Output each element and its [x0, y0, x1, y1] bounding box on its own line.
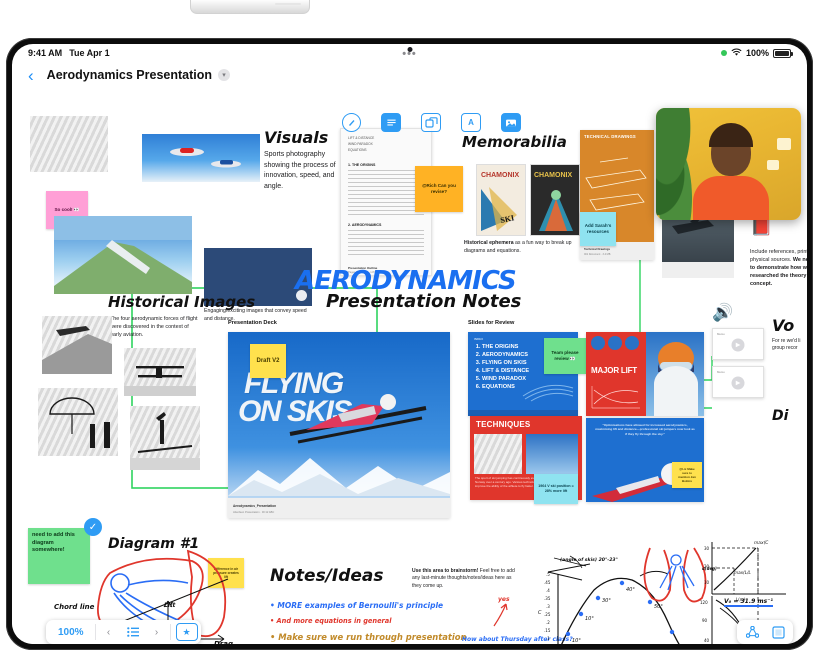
photo-glider-1[interactable]: [42, 316, 112, 374]
photo-skier-vintage[interactable]: [130, 406, 200, 470]
technical-drawings-title: TECHNICAL DRAWINGS: [584, 134, 636, 139]
svg-text:10: 10: [704, 580, 710, 585]
page-title: Aerodynamics Presentation: [47, 68, 212, 82]
chart2-velocity-annotation: V₀ = 31.9 ms⁻¹: [724, 598, 773, 607]
slide-major-lift[interactable]: MAJOR LIFT: [586, 332, 704, 416]
zoom-level[interactable]: 100%: [49, 627, 93, 638]
note-bullet: • Make sure we run through presentation: [270, 632, 466, 642]
heading-visuals: Visuals: [264, 128, 328, 147]
media-icon[interactable]: [501, 113, 521, 132]
svg-text:30°: 30°: [602, 598, 611, 604]
svg-text:max(C: max(C: [754, 540, 769, 546]
svg-text:120: 120: [700, 600, 708, 605]
chevron-right-icon[interactable]: ›: [146, 622, 168, 642]
svg-text:.2: .2: [546, 620, 550, 625]
speaker-emoji: 🔊: [712, 303, 733, 323]
svg-text:.3: .3: [546, 604, 550, 609]
sticky-boklov[interactable]: @Liz Make sure to mention Jan Boklov: [672, 462, 702, 488]
notes-prompt: Use this area to brainstorm! Feel free t…: [412, 568, 517, 590]
poster-chamonix-2[interactable]: CHAMONIX: [530, 164, 580, 236]
svg-text:CHAMONIX: CHAMONIX: [534, 172, 572, 179]
zoom-toolbar: 100% ‹ › ★: [46, 620, 201, 644]
photo-biplane[interactable]: [124, 348, 196, 396]
app-navbar: ‹ Aerodynamics Presentation ▾: [12, 62, 807, 88]
connector-graph-icon[interactable]: [741, 622, 763, 642]
board-title-line2: Presentation Notes: [326, 291, 521, 312]
facetime-pip[interactable]: [656, 108, 801, 220]
index-label: INDEX: [474, 337, 483, 341]
note-bullet: • MORE examples of Bernoulli's principle: [270, 601, 443, 610]
slide-quote[interactable]: "Optimisations have allowed for increase…: [586, 418, 704, 502]
heading-historical-images: Historical Images: [108, 293, 255, 311]
svg-text:.45: .45: [544, 580, 551, 585]
canvas-toolbar: A: [342, 113, 521, 132]
chevron-down-icon[interactable]: ▾: [218, 69, 230, 81]
svg-text:.25: .25: [544, 612, 551, 617]
battery-percent: 100%: [746, 48, 769, 58]
svg-text:.4: .4: [546, 588, 550, 593]
note-icon[interactable]: [381, 113, 401, 132]
label-chord-line: Chord line: [54, 603, 94, 611]
label-drag: Drag: [214, 640, 233, 644]
whiteboard-canvas[interactable]: So cool! 👀 Engaging/exciting images that…: [12, 88, 807, 644]
shapes-icon[interactable]: [421, 113, 441, 132]
doc-index-3: EQUATIONS: [348, 147, 374, 153]
voice-memo-clip-2[interactable]: ▶ Memo: [712, 366, 764, 398]
pip-lamp-1: [777, 138, 791, 150]
wifi-icon: [731, 48, 742, 59]
privacy-indicator-dot: [721, 50, 727, 56]
techniques-title: TECHNIQUES: [476, 420, 530, 429]
svg-text:.35: .35: [544, 596, 551, 601]
svg-text:.1: .1: [546, 636, 550, 641]
doc-h1: 1. THE ORIGINS: [348, 163, 375, 167]
heading-memorabilia: Memorabilia: [462, 133, 567, 151]
index-item: LIFT & DISTANCE: [482, 368, 529, 376]
technical-drawings-caption: Technical Drawings: [584, 247, 610, 251]
voice-clip-2-label: Memo: [717, 370, 725, 374]
voice-footer: Di: [772, 408, 788, 424]
voice-memo-clip-1[interactable]: ▶ Memo: [712, 328, 764, 360]
heading-notes-ideas: Notes/Ideas: [270, 566, 384, 586]
sticky-revise[interactable]: @Rich Can you revise?: [415, 166, 463, 212]
sticky-v-ski[interactable]: 1964 V ski position = 28% more lift: [534, 474, 578, 504]
heading-voice: Vo: [772, 316, 794, 335]
annotate-pen-icon[interactable]: [342, 113, 361, 132]
photo-caption-strip: [662, 262, 734, 278]
text-box-icon[interactable]: A: [461, 113, 481, 132]
sticky-draft-v2[interactable]: Draft V2: [250, 344, 286, 378]
label-slides-for-review: Slides for Review: [468, 320, 514, 326]
svg-text:40: 40: [704, 638, 710, 643]
reply-arrow: [490, 600, 512, 630]
ipad-device-frame: 9:41 AM Tue Apr 1 ••• 100% ‹ Aerodynamic…: [6, 38, 813, 650]
svg-text:.5: .5: [546, 572, 550, 577]
slide-flying-on-skis[interactable]: Aerodynamics_Presentation Aberdeen Prese…: [228, 332, 450, 518]
svg-text:30: 30: [704, 546, 710, 551]
screenshot-root: 9:41 AM Tue Apr 1 ••• 100% ‹ Aerodynamic…: [0, 0, 819, 653]
label-lift: Lift: [164, 602, 175, 609]
voice-body: For re we'd li group recor: [772, 338, 807, 353]
svg-text:C: C: [538, 610, 542, 616]
caption-memorabilia: Historical ephemera as a fun way to brea…: [464, 240, 572, 255]
body-visuals: Sports photography showing the process o…: [264, 150, 342, 192]
chart1-angle-annotation: (angle of skis) 20°-23°: [560, 558, 618, 563]
check-badge-icon: ✓: [84, 518, 102, 536]
notes-prompt-bold: Use this area to brainstorm!: [412, 568, 478, 574]
sticky-sarah[interactable]: Add Sarah's resources: [580, 212, 616, 246]
chart2-ylabel: α(deg): [702, 566, 717, 571]
list-icon[interactable]: [122, 622, 144, 642]
svg-text:SKI: SKI: [500, 213, 515, 225]
back-chevron-icon[interactable]: ‹: [28, 67, 34, 84]
svg-text:CHAMONIX: CHAMONIX: [481, 172, 519, 179]
object-toolbar: [737, 620, 793, 644]
star-icon[interactable]: ★: [176, 623, 198, 641]
status-time: 9:41 AM: [28, 48, 62, 58]
poster-chamonix-1[interactable]: CHAMONIXSKI: [476, 164, 526, 236]
front-camera: [407, 47, 412, 52]
chevron-left-icon[interactable]: ‹: [98, 622, 120, 642]
apple-pencil: [190, 0, 310, 14]
index-item: AERODYNAMICS: [482, 352, 529, 360]
body-historical-images: The four aerodynamic forces of flight we…: [110, 316, 200, 339]
photo-parachute[interactable]: [38, 388, 118, 456]
doc-h2: 2. AERODYNAMICS: [348, 223, 381, 227]
battery-icon: [773, 49, 791, 58]
caption-memorabilia-bold: Historical ephemera: [464, 240, 514, 246]
index-item: THE ORIGINS: [482, 344, 529, 352]
svg-text:10°: 10°: [572, 638, 581, 644]
svg-text:90: 90: [702, 618, 708, 623]
sticky-team-review[interactable]: Team please review 👀: [544, 338, 586, 374]
svg-text:10°: 10°: [585, 616, 594, 622]
slide-footer: Aerodynamics_Presentation: [233, 504, 276, 508]
svg-text:.15: .15: [544, 628, 551, 633]
index-item: FLYING ON SKIS: [482, 360, 529, 368]
photo-ski-jump-hill[interactable]: [54, 216, 192, 294]
major-lift-title: MAJOR LIFT: [591, 366, 637, 375]
photo-vintage-glider[interactable]: [30, 116, 108, 172]
note-bullet: • And more equations in general: [270, 617, 392, 625]
photo-skier-sky[interactable]: [142, 134, 260, 182]
svg-text:max(L/L: max(L/L: [734, 570, 752, 575]
slide-footer-sub: Aberdeen Presentation · 00:12 ABC: [233, 511, 274, 514]
quote-text: "Optimisations have allowed for increase…: [594, 423, 696, 436]
frame-grid-icon[interactable]: [767, 622, 789, 642]
ipad-screen: 9:41 AM Tue Apr 1 ••• 100% ‹ Aerodynamic…: [12, 44, 807, 644]
status-date: Tue Apr 1: [69, 48, 110, 58]
pip-participant-avatar: [692, 128, 770, 220]
svg-text:40°: 40°: [626, 587, 635, 593]
technical-drawings-caption-sub: 001 Document · 3.4 MB: [584, 253, 610, 256]
label-presentation-deck: Presentation Deck: [228, 320, 277, 326]
voice-clip-1-label: Memo: [717, 332, 725, 336]
references-text: Include references, print and physical s…: [750, 248, 807, 289]
